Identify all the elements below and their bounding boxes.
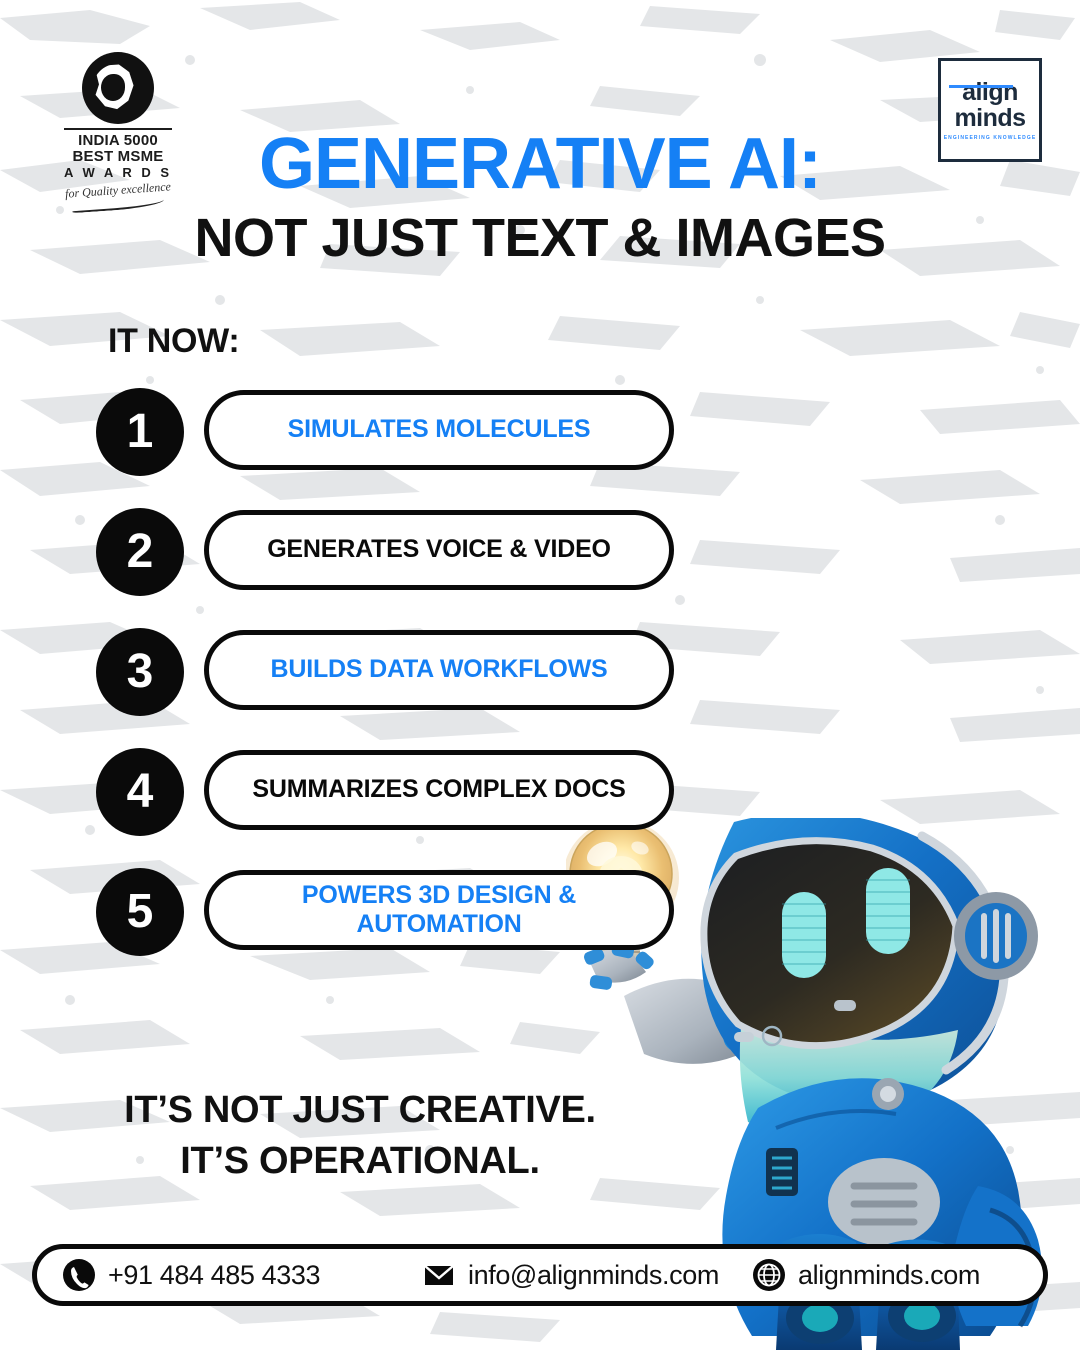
- email-address: info@alignminds.com: [468, 1260, 719, 1291]
- contact-phone[interactable]: +91 484 485 4333: [63, 1259, 423, 1291]
- logo-accent-bar: [949, 85, 1013, 88]
- feature-row: 2GENERATES VOICE & VIDEO: [96, 508, 696, 592]
- feature-number-badge: 4: [96, 748, 184, 836]
- robot-arm: [624, 979, 802, 1084]
- feature-pill[interactable]: GENERATES VOICE & VIDEO: [204, 510, 674, 590]
- page-subtitle: NOT JUST TEXT & IMAGES: [0, 210, 1080, 267]
- feature-pill[interactable]: SUMMARIZES COMPLEX DOCS: [204, 750, 674, 830]
- headline-block: GENERATIVE AI: NOT JUST TEXT & IMAGES: [0, 128, 1080, 267]
- robot-ear-module: [954, 892, 1038, 980]
- globe-icon: [753, 1259, 785, 1291]
- feature-label: POWERS 3D DESIGN & AUTOMATION: [209, 881, 669, 940]
- feature-list: 1SIMULATES MOLECULES2GENERATES VOICE & V…: [96, 388, 696, 952]
- website-url: alignminds.com: [798, 1260, 980, 1291]
- poster-canvas: INDIA 5000 BEST MSME A W A R D S for Qua…: [0, 0, 1080, 1350]
- closing-statement: IT’S NOT JUST CREATIVE. IT’S OPERATIONAL…: [0, 1085, 720, 1188]
- feature-row: 3BUILDS DATA WORKFLOWS: [96, 628, 696, 712]
- feature-number-badge: 5: [96, 868, 184, 956]
- contact-bar: +91 484 485 4333 info@alignminds.com a: [32, 1244, 1048, 1306]
- feature-row: 5POWERS 3D DESIGN & AUTOMATION: [96, 868, 696, 952]
- feature-label: BUILDS DATA WORKFLOWS: [253, 655, 626, 685]
- feature-pill[interactable]: BUILDS DATA WORKFLOWS: [204, 630, 674, 710]
- contact-email[interactable]: info@alignminds.com: [423, 1259, 753, 1291]
- feature-label: GENERATES VOICE & VIDEO: [249, 535, 629, 565]
- feature-pill[interactable]: SIMULATES MOLECULES: [204, 390, 674, 470]
- robot-head: [701, 818, 1038, 1137]
- feature-number-badge: 2: [96, 508, 184, 596]
- feature-row: 4SUMMARIZES COMPLEX DOCS: [96, 748, 696, 832]
- closing-line-1: IT’S NOT JUST CREATIVE.: [0, 1085, 720, 1136]
- kicker-text: IT NOW:: [108, 322, 239, 361]
- contact-website[interactable]: alignminds.com: [753, 1259, 980, 1291]
- feature-row: 1SIMULATES MOLECULES: [96, 388, 696, 472]
- feature-number-badge: 1: [96, 388, 184, 476]
- logo-word-minds: minds: [954, 106, 1025, 131]
- page-title: GENERATIVE AI:: [0, 128, 1080, 200]
- feature-number-badge: 3: [96, 628, 184, 716]
- feature-label: SUMMARIZES COMPLEX DOCS: [234, 775, 643, 805]
- phone-number: +91 484 485 4333: [108, 1260, 320, 1291]
- closing-line-2: IT’S OPERATIONAL.: [0, 1136, 720, 1187]
- lion-icon: [82, 52, 154, 124]
- feature-label: SIMULATES MOLECULES: [270, 415, 609, 445]
- phone-icon: [63, 1259, 95, 1291]
- envelope-icon: [423, 1259, 455, 1291]
- feature-pill[interactable]: POWERS 3D DESIGN & AUTOMATION: [204, 870, 674, 950]
